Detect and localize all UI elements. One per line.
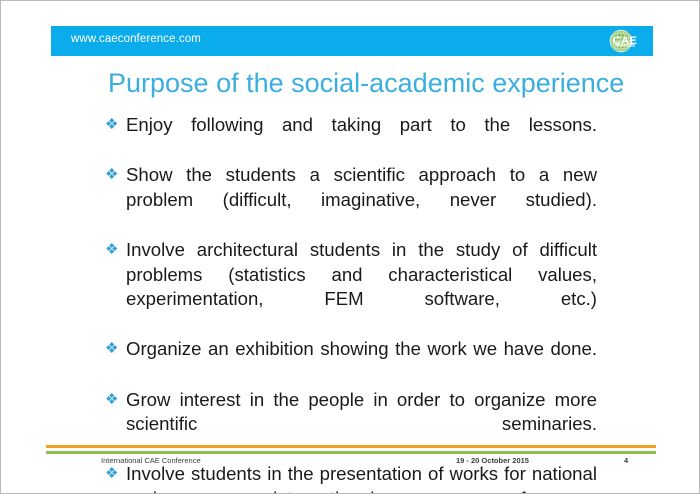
cae-globe-logo: CAE xyxy=(601,27,645,55)
footer-date: 19 - 20 October 2015 xyxy=(456,456,529,465)
conference-website-url: www.caeconference.com xyxy=(71,33,201,45)
slide-bullet-list: ❖ Enjoy following and taking part to the… xyxy=(105,113,597,494)
bullet-item: ❖ Organize an exhibition showing the wor… xyxy=(105,337,597,386)
slide-title: Purpose of the social-academic experienc… xyxy=(108,67,648,99)
bullet-text: Enjoy following and taking part to the l… xyxy=(126,113,597,162)
bullet-item: ❖ Involve students in the presentation o… xyxy=(105,462,597,494)
slide-header-band: www.caeconference.com CA xyxy=(51,26,653,56)
diamond-bullet-icon: ❖ xyxy=(105,337,118,362)
diamond-bullet-icon: ❖ xyxy=(105,113,118,138)
footer-divider-orange xyxy=(46,445,656,448)
bullet-text: Organize an exhibition showing the work … xyxy=(126,337,597,386)
diamond-bullet-icon: ❖ xyxy=(105,163,118,188)
diamond-bullet-icon: ❖ xyxy=(105,462,118,487)
bullet-text: Show the students a scientific approach … xyxy=(126,163,597,237)
bullet-text: Involve students in the presentation of … xyxy=(126,462,597,494)
footer-page-number: 4 xyxy=(624,456,628,465)
diamond-bullet-icon: ❖ xyxy=(105,388,118,413)
bullet-item: ❖ Show the students a scientific approac… xyxy=(105,163,597,237)
bullet-item: ❖ Involve architectural students in the … xyxy=(105,238,597,336)
footer-divider-green xyxy=(46,451,656,454)
bullet-text: Involve architectural students in the st… xyxy=(126,238,597,336)
diamond-bullet-icon: ❖ xyxy=(105,238,118,263)
presentation-slide: www.caeconference.com CA xyxy=(0,0,700,494)
bullet-item: ❖ Enjoy following and taking part to the… xyxy=(105,113,597,162)
footer-conference-name: International CAE Conference xyxy=(101,456,201,465)
